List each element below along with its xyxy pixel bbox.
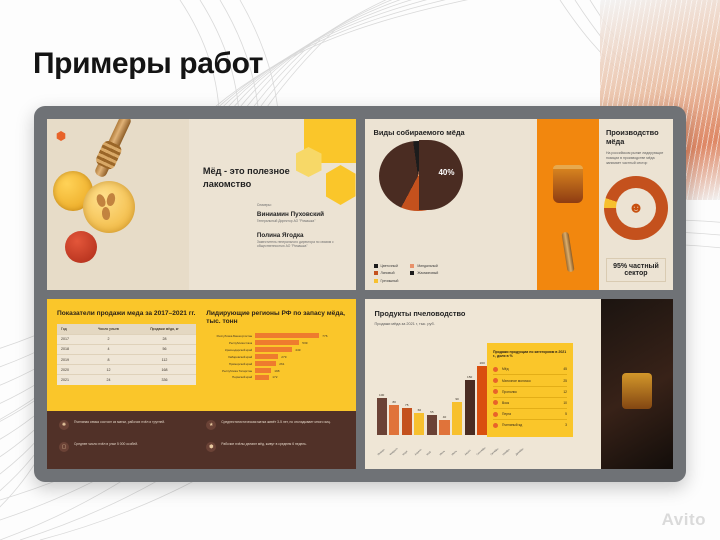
table-header-cell: Число ульев <box>84 324 133 334</box>
bee-facts-panel: ✺ Пчелиная семья состоит из матки, рабоч… <box>47 411 356 469</box>
table-cell: 28 <box>133 334 197 344</box>
pie-slice-highlight: 40% <box>419 140 463 210</box>
table-row: 2019 8 112 <box>57 354 196 364</box>
column-value: 150 <box>467 375 472 379</box>
fact-item: ★ Среднестатистическая матка живёт 3-5 л… <box>206 420 343 438</box>
products-subtitle: Продажи мёда за 2021 г, тыс. руб. <box>375 322 594 326</box>
category-name: Маточное молочко <box>502 379 559 383</box>
bar-value: 776 <box>322 334 327 338</box>
production-footer-stat: 95% частный сектор <box>606 258 666 282</box>
column-value: 90 <box>455 397 458 401</box>
legend-column-left: Цветочный Липовый Гречишный <box>374 264 399 283</box>
column-bar <box>377 398 387 435</box>
legend-column-right: Миндальный Жасминовый <box>410 264 438 283</box>
column-bar <box>389 405 399 435</box>
bar-label: Республика Саха <box>206 341 252 345</box>
table-header-cell: Год <box>57 324 84 334</box>
column-item: 55 <box>427 361 437 435</box>
slide-honey-types[interactable]: Виды собираемого мёда 40% Цветочный <box>365 119 674 290</box>
almond-icon <box>101 207 110 221</box>
category-name: Пчелиный яд <box>502 423 561 427</box>
table-cell: 2017 <box>57 334 84 344</box>
presentation-preview-page: Примеры работ <box>0 0 720 540</box>
regions-bar-chart: Республика Башкортостан 776 Республика С… <box>206 333 345 380</box>
table-cell: 2 <box>84 334 133 344</box>
honey-bowl-with-almonds <box>83 181 135 233</box>
bar-value: 279 <box>281 355 286 359</box>
bee-family-icon: ✺ <box>59 420 69 430</box>
category-value: 45 <box>563 367 567 371</box>
bar-value: 449 <box>295 348 300 352</box>
slide-title-content: Мёд - это полезное лакомство Спикеры: Ви… <box>189 119 356 290</box>
table-cell: 56 <box>133 344 197 354</box>
slide-beekeeping-products[interactable]: Продукты пчеловодство Продажи мёда за 20… <box>365 299 674 470</box>
table-cell: 336 <box>133 375 197 385</box>
honey-photo-panel <box>601 299 673 470</box>
production-title: Производство мёда <box>606 128 666 147</box>
x-axis-label: Ноябрь <box>502 447 511 456</box>
column-bar <box>477 366 487 435</box>
bar-row: Хабаровский край 279 <box>206 354 345 359</box>
legend-label: Гречишный <box>381 279 399 283</box>
table-row: 2020 12 168 <box>57 365 196 375</box>
bar-fill <box>255 354 278 359</box>
category-name: Перга <box>502 412 561 416</box>
regions-bar-title: Лидирующие регионы РФ по запасу мёда, ты… <box>206 310 345 328</box>
bullet-dot-icon <box>493 389 498 394</box>
bar-label: Республика Татарстан <box>206 369 252 373</box>
fact-item: ▢ Среднее число пчёл в улье 5 000 особей… <box>59 442 196 460</box>
hive-icon: ▢ <box>59 442 69 452</box>
column-value: 75 <box>405 403 408 407</box>
honey-dipper-icon <box>93 119 132 178</box>
avito-watermark: Avito <box>662 510 706 530</box>
category-row: Воск 10 <box>493 398 567 409</box>
bar-row: Пермский край 172 <box>206 375 345 380</box>
fact-text: Среднестатистическая матка живёт 3-5 лет… <box>221 420 331 425</box>
table-row: 2018 4 56 <box>57 344 196 354</box>
bullet-dot-icon <box>493 378 498 383</box>
bar-row: Краснодарский край 449 <box>206 347 345 352</box>
column-item: 200 <box>477 361 487 435</box>
column-bar <box>439 420 449 435</box>
category-value: 5 <box>565 412 567 416</box>
category-row: Перга 5 <box>493 409 567 420</box>
red-spice-bowl <box>65 231 97 263</box>
category-name: Прополис <box>502 390 559 394</box>
slide-heading: Мёд - это полезное лакомство <box>203 165 333 191</box>
pie-chart-panel: Виды собираемого мёда 40% Цветочный <box>365 119 538 290</box>
bar-label: Краснодарский край <box>206 348 252 352</box>
honey-jar-icon <box>622 373 652 409</box>
bar-label: Приморский край <box>206 362 252 366</box>
slide-title-photo <box>47 119 189 290</box>
products-chart-panel: Продукты пчеловодство Продажи мёда за 20… <box>365 299 602 470</box>
column-value: 100 <box>379 393 384 397</box>
honey-jar-icon <box>553 165 583 203</box>
honey-dipper-icon <box>562 231 575 272</box>
legend-item: Миндальный <box>410 264 438 268</box>
bar-row: Приморский край 261 <box>206 361 345 366</box>
bar-label: Хабаровский край <box>206 355 252 359</box>
category-value: 25 <box>563 379 567 383</box>
bullet-dot-icon <box>493 412 498 417</box>
speaker-name: Виниамин Пуховский <box>257 211 324 218</box>
bar-row: Республика Татарстан 198 <box>206 368 345 373</box>
speaker-role: Генеральный Директор АО "Ромашка" <box>257 219 337 223</box>
speaker-name: Полина Ягодка <box>257 232 304 239</box>
table-cell: 2018 <box>57 344 84 354</box>
sales-table: Год Число ульев Продажи мёда, кг 2017 2 … <box>57 324 196 384</box>
table-cell: 8 <box>84 354 133 364</box>
speaker-role: Заместитель генерального директора по св… <box>257 240 337 249</box>
column-bar <box>465 380 475 435</box>
almond-icon <box>106 192 117 206</box>
x-axis-label: Июль <box>451 447 460 456</box>
column-item: 60 <box>414 361 424 435</box>
fact-text: Пчелиная семья состоит из матки, рабочих… <box>74 420 165 425</box>
legend-item: Гречишный <box>374 279 399 283</box>
table-cell: 112 <box>133 354 197 364</box>
x-axis-label: Октябрь <box>490 447 499 456</box>
table-cell: 4 <box>84 344 133 354</box>
production-panel: Производство мёда На российском рынке ли… <box>599 119 673 290</box>
x-axis-label: Июнь <box>439 447 448 456</box>
x-axis-label: Сентябрь <box>476 447 486 457</box>
legend-swatch <box>374 279 378 283</box>
sales-table-title: Показатели продажи меда за 2017–2021 гг. <box>57 310 196 319</box>
bar-fill <box>255 361 276 366</box>
legend-swatch <box>374 264 378 268</box>
category-row: Прополис 12 <box>493 387 567 398</box>
slide-sales-top: Показатели продажи меда за 2017–2021 гг.… <box>47 299 356 412</box>
x-axis-label: Январь <box>377 447 386 456</box>
table-cell: 168 <box>133 365 197 375</box>
legend-item: Липовый <box>374 271 399 275</box>
column-item: 150 <box>465 361 475 435</box>
queen-bee-icon: ★ <box>206 420 216 430</box>
column-value: 60 <box>418 408 421 412</box>
bullet-dot-icon <box>493 367 498 372</box>
legend-label: Липовый <box>381 271 395 275</box>
legend-label: Цветочный <box>381 264 398 268</box>
fact-item: ⬢ Рабочие пчёлы делают мёд, живут в сред… <box>206 442 343 460</box>
legend-item: Жасминовый <box>410 271 438 275</box>
column-value: 80 <box>392 400 395 404</box>
fact-text: Рабочие пчёлы делают мёд, живут в средне… <box>221 442 307 447</box>
column-bar <box>452 402 462 435</box>
pie-chart-legend: Цветочный Липовый Гречишный <box>374 264 439 283</box>
fact-item: ✺ Пчелиная семья состоит из матки, рабоч… <box>59 420 196 438</box>
pie-slice-label: 40% <box>438 168 454 177</box>
pie-chart-title: Виды собираемого мёда <box>374 128 530 137</box>
column-value: 200 <box>480 361 485 365</box>
bullet-dot-icon <box>493 423 498 428</box>
bar-value: 261 <box>279 362 284 366</box>
x-axis-label: Декабрь <box>515 447 524 456</box>
table-cell: 2020 <box>57 365 84 375</box>
bar-fill <box>255 368 271 373</box>
column-item: 75 <box>402 361 412 435</box>
legend-swatch <box>410 264 414 268</box>
x-axis-label: Апрель <box>414 447 423 456</box>
category-name: Воск <box>502 401 559 405</box>
speakers-label: Спикеры: <box>257 203 272 207</box>
bar-label: Республика Башкортостан <box>206 334 252 338</box>
category-row: Мёд 45 <box>493 364 567 375</box>
slides-grid: Мёд - это полезное лакомство Спикеры: Ви… <box>47 119 673 469</box>
column-bar <box>402 408 412 435</box>
table-header-row: Год Число ульев Продажи мёда, кг <box>57 324 196 334</box>
bar-fill <box>255 333 319 338</box>
monitor-frame: Мёд - это полезное лакомство Спикеры: Ви… <box>34 106 686 482</box>
bar-value: 198 <box>274 369 279 373</box>
table-row: 2017 2 28 <box>57 334 196 344</box>
production-body-text: На российском рынке лидирующие позиции в… <box>606 151 666 166</box>
x-axis-label: Август <box>464 447 473 456</box>
bar-fill <box>255 375 269 380</box>
column-bar <box>414 413 424 435</box>
legend-item: Цветочный <box>374 264 399 268</box>
table-cell: 24 <box>84 375 133 385</box>
category-value: 12 <box>563 390 567 394</box>
pie-chart: 40% <box>379 141 461 213</box>
products-x-axis-labels: Январь Февраль Март Апрель Май Июнь Июль… <box>377 454 526 457</box>
bar-value: 539 <box>302 341 307 345</box>
beekeeper-icon: ☻ <box>628 199 644 216</box>
almond-icon <box>95 193 107 208</box>
column-bar <box>427 415 437 435</box>
category-share-legend: Продажи продукции по категориям в 2021 г… <box>487 343 573 438</box>
category-row: Пчелиный яд 3 <box>493 420 567 430</box>
honey-jar-photo-panel <box>537 119 599 290</box>
donut-chart: ☻ <box>604 176 668 240</box>
category-share-title: Продажи продукции по категориям в 2021 г… <box>493 350 567 360</box>
table-row: 2021 24 336 <box>57 375 196 385</box>
legend-swatch <box>374 271 378 275</box>
category-value: 3 <box>565 423 567 427</box>
page-title: Примеры работ <box>33 47 263 81</box>
bar-label: Пермский край <box>206 375 252 379</box>
bar-row: Республика Саха 539 <box>206 340 345 345</box>
column-item: 100 <box>377 361 387 435</box>
column-item: 40 <box>439 361 449 435</box>
bar-fill <box>255 340 299 345</box>
bullet-dot-icon <box>493 400 498 405</box>
x-axis-label: Март <box>402 447 411 456</box>
bar-fill <box>255 347 292 352</box>
sales-table-column: Показатели продажи меда за 2017–2021 гг.… <box>57 310 196 412</box>
legend-swatch <box>410 271 414 275</box>
column-value: 55 <box>430 410 433 414</box>
category-row: Маточное молочко 25 <box>493 375 567 386</box>
products-title: Продукты пчеловодство <box>375 309 594 318</box>
hexagon-dot-icon <box>56 131 66 141</box>
table-header-cell: Продажи мёда, кг <box>133 324 197 334</box>
table-cell: 12 <box>84 365 133 375</box>
column-item: 90 <box>452 361 462 435</box>
bar-row: Республика Башкортостан 776 <box>206 333 345 338</box>
category-value: 10 <box>563 401 567 405</box>
fact-text: Среднее число пчёл в улье 5 000 особей. <box>74 442 138 447</box>
column-item: 80 <box>389 361 399 435</box>
x-axis-label: Февраль <box>389 447 399 456</box>
column-value: 40 <box>443 415 446 419</box>
slide-sales-table[interactable]: Показатели продажи меда за 2017–2021 гг.… <box>47 299 356 470</box>
honeycomb-icon: ⬢ <box>206 442 216 452</box>
category-name: Мёд <box>502 367 559 371</box>
regions-bar-column: Лидирующие регионы РФ по запасу мёда, ты… <box>206 310 345 412</box>
legend-label: Жасминовый <box>417 271 438 275</box>
table-cell: 2019 <box>57 354 84 364</box>
x-axis-label: Май <box>426 447 435 456</box>
table-cell: 2021 <box>57 375 84 385</box>
bar-value: 172 <box>272 375 277 379</box>
slide-title[interactable]: Мёд - это полезное лакомство Спикеры: Ви… <box>47 119 356 290</box>
legend-label: Миндальный <box>417 264 437 268</box>
